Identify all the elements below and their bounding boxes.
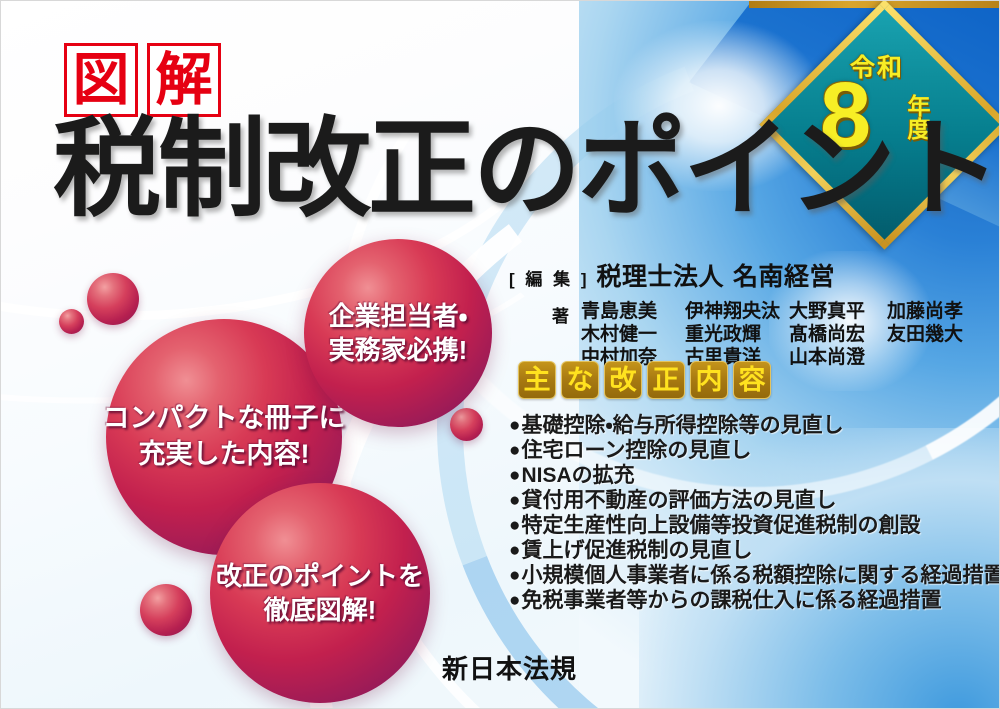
list-item-label: 住宅ローン控除の見直し: [521, 438, 751, 463]
author-name: 友田幾大: [887, 323, 981, 346]
editor-label: [ 編 集 ]: [509, 265, 590, 290]
mini-sphere-2: [59, 309, 84, 334]
editor-org-part-1: 税理士法人: [597, 263, 725, 291]
author-name: 大野真平: [789, 300, 887, 323]
list-item-label: 基礎控除・給与所得控除等の見直し: [521, 413, 843, 438]
zukai-char-2: 解: [147, 43, 221, 117]
section-heading-char-1: 主: [518, 361, 556, 399]
editor-organization: 税理士法人名南経営: [597, 257, 836, 293]
credits-block: [ 編 集 ] 税理士法人名南経営 著 青島恵美 木村健一 中村加奈 伊神翔央汰…: [509, 257, 981, 369]
mini-sphere-1: [87, 273, 139, 325]
authors-column-1: 青島恵美 木村健一 中村加奈: [581, 300, 685, 369]
mini-sphere-4: [140, 584, 192, 636]
author-name: 髙橋尚宏: [789, 323, 887, 346]
list-item-label: 小規模個人事業者に係る税額控除に関する経過措置: [521, 563, 1000, 588]
author-name: 木村健一: [581, 323, 685, 346]
authors-column-2: 伊神翔央汰 重光政輝 古里貴洋: [685, 300, 789, 369]
catchcopy-sphere-corporate: 企業担当者・ 実務家必携!: [304, 239, 492, 427]
book-cover: 図 解 税制改正のポイント 令和 8 年度 コンパクトな冊子に 充実した内容! …: [0, 0, 1000, 709]
list-item: ● NISAの拡充: [509, 463, 1000, 488]
catchcopy-line-2: 実務家必携!: [329, 333, 468, 367]
author-name: 加藤尚孝: [887, 300, 981, 323]
list-item: ● 賃上げ促進税制の見直し: [509, 538, 1000, 563]
catchcopy-sphere-illustrated: 改正のポイントを 徹底図解!: [210, 483, 430, 703]
section-heading-char-4: 正: [647, 361, 685, 399]
section-heading: 主 な 改 正 内 容: [518, 361, 771, 399]
authors-row: 著 青島恵美 木村健一 中村加奈 伊神翔央汰 重光政輝 古里貴洋 大野真平 髙橋…: [509, 300, 981, 369]
revision-list: ● 基礎控除・給与所得控除等の見直し ● 住宅ローン控除の見直し ● NISAの…: [509, 413, 1000, 613]
publisher-name: 新日本法規: [442, 649, 577, 686]
section-heading-char-3: 改: [604, 361, 642, 399]
catchcopy-line-2: 徹底図解!: [216, 593, 424, 627]
catchcopy-sphere-illustrated-text: 改正のポイントを 徹底図解!: [216, 559, 424, 628]
catchcopy-line-1: コンパクトな冊子に: [103, 401, 346, 437]
list-item-label: 賃上げ促進税制の見直し: [521, 538, 752, 563]
page-title: 税制改正のポイント: [53, 113, 998, 225]
zukai-badge: 図 解: [64, 43, 221, 117]
catchcopy-line-1: 企業担当者・: [329, 299, 468, 333]
section-heading-char-6: 容: [733, 361, 771, 399]
bullet-marker-icon: ●: [509, 463, 520, 488]
author-name: 伊神翔央汰: [685, 300, 789, 323]
bullet-marker-icon: ●: [509, 563, 520, 588]
section-heading-char-2: な: [561, 361, 599, 399]
bullet-marker-icon: ●: [509, 488, 520, 513]
bullet-marker-icon: ●: [509, 538, 520, 563]
bullet-marker-icon: ●: [509, 513, 520, 538]
bullet-marker-icon: ●: [509, 438, 520, 463]
list-item-label: 貸付用不動産の評価方法の見直し: [521, 488, 836, 513]
list-item: ● 小規模個人事業者に係る税額控除に関する経過措置: [509, 563, 1000, 588]
zukai-char-1: 図: [64, 43, 138, 117]
bullet-marker-icon: ●: [509, 588, 520, 613]
catchcopy-sphere-compact-text: コンパクトな冊子に 充実した内容!: [103, 401, 346, 472]
list-item: ● 免税事業者等からの課税仕入に係る経過措置: [509, 588, 1000, 613]
list-item-label: 免税事業者等からの課税仕入に係る経過措置: [521, 588, 941, 613]
list-item: ● 貸付用不動産の評価方法の見直し: [509, 488, 1000, 513]
authors-column-4: 加藤尚孝 友田幾大: [887, 300, 981, 369]
list-item: ● 特定生産性向上設備等投資促進税制の創設: [509, 513, 1000, 538]
author-name: 重光政輝: [685, 323, 789, 346]
editor-row: [ 編 集 ] 税理士法人名南経営: [509, 257, 981, 293]
list-item-label: NISAの拡充: [521, 463, 634, 488]
author-name: 山本尚澄: [789, 346, 887, 369]
list-item: ● 基礎控除・給与所得控除等の見直し: [509, 413, 1000, 438]
authors-column-3: 大野真平 髙橋尚宏 山本尚澄: [789, 300, 887, 369]
mini-sphere-3: [450, 408, 483, 441]
catchcopy-line-1: 改正のポイントを: [216, 559, 424, 593]
list-item: ● 住宅ローン控除の見直し: [509, 438, 1000, 463]
author-name: 青島恵美: [581, 300, 685, 323]
list-item-label: 特定生産性向上設備等投資促進税制の創設: [521, 513, 920, 538]
authors-label: 著: [509, 300, 581, 369]
catchcopy-line-2: 充実した内容!: [103, 437, 346, 473]
bullet-marker-icon: ●: [509, 413, 520, 438]
editor-org-part-2: 名南経営: [733, 263, 835, 291]
section-heading-char-5: 内: [690, 361, 728, 399]
catchcopy-sphere-corporate-text: 企業担当者・ 実務家必携!: [329, 299, 468, 368]
authors-columns: 青島恵美 木村健一 中村加奈 伊神翔央汰 重光政輝 古里貴洋 大野真平 髙橋尚宏…: [581, 300, 981, 369]
